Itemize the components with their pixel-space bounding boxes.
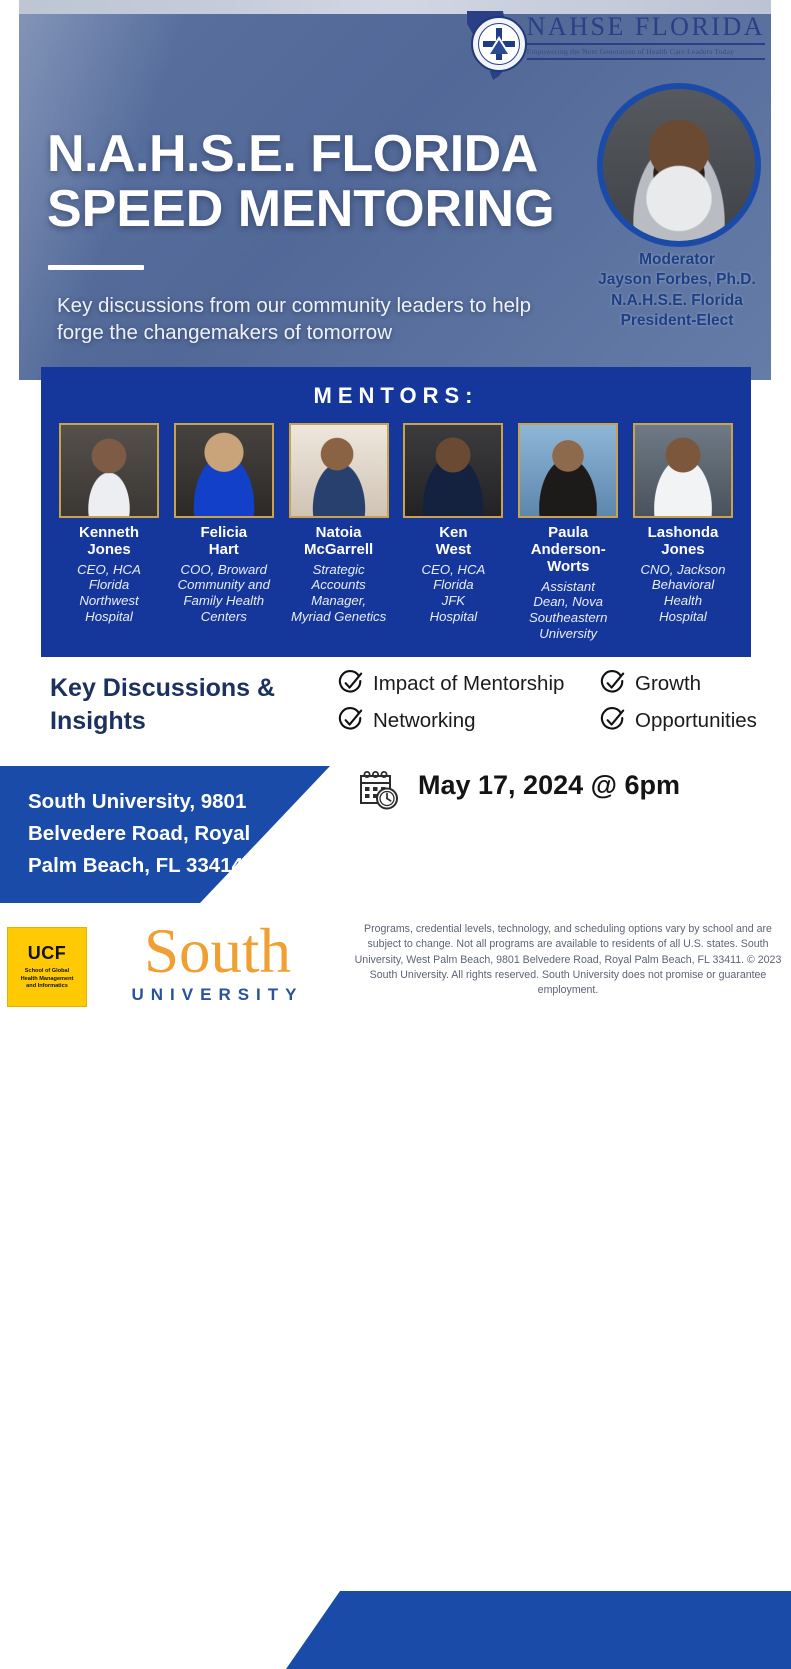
mentor-card: LashondaJonesCNO, JacksonBehavioralHealt… [629,423,737,641]
moderator-org: N.A.H.S.E. Florida [597,291,757,311]
mentor-title: CEO, HCAFloridaJFKHospital [399,562,507,624]
mentor-photo [403,423,503,518]
mentor-title: CNO, JacksonBehavioralHealthHospital [629,562,737,624]
mentor-card: NatoiaMcGarrellStrategicAccountsManager,… [285,423,393,641]
registration-link[interactable]: https://tinyurl.com/NAHSE-Florida [286,870,791,898]
cta-heading: RESERVE YOUR SPOT NOW! [286,834,791,862]
list-item: Impact of Mentorship [337,670,599,697]
moderator-avatar [597,83,761,247]
logo-wordmark: NAHSE FLORIDA [527,14,765,40]
list-item: Opportunities [599,707,757,734]
moderator-portrait-icon [603,89,755,241]
mentor-card: FeliciaHartCOO, BrowardCommunity andFami… [170,423,278,641]
nahse-seal-icon [471,16,527,72]
mentor-title: CEO, HCAFloridaNorthwestHospital [55,562,163,624]
mentors-heading: MENTORS: [41,367,751,409]
list-item-label: Impact of Mentorship [373,672,564,696]
event-date: May 17, 2024 @ 6pm [418,770,680,801]
check-circle-icon [337,670,364,697]
hero-subtitle: Key discussions from our community leade… [57,292,562,347]
mentor-name: KenWest [399,525,507,559]
mentor-name: LashondaJones [629,525,737,559]
mentor-title: AssistantDean, NovaSoutheasternUniversit… [514,579,622,641]
key-discussions-list: Impact of Mentorship Growth Networking [337,670,787,744]
list-item: Growth [599,670,701,697]
ucf-wordmark: UCF [28,943,67,964]
mentor-photo [633,423,733,518]
south-university-label: UNIVERSITY [110,985,325,1005]
mentor-photo [518,423,618,518]
mentor-name: FeliciaHart [170,525,278,559]
ucf-logo: UCF School of Global Health Management a… [7,927,87,1007]
mentor-card: KennethJonesCEO, HCAFloridaNorthwestHosp… [55,423,163,641]
hero-left-margin [0,0,19,380]
key-discussions-row: Networking Opportunities [337,707,787,734]
event-address: South University, 9801 Belvedere Road, R… [28,786,278,881]
hero-right-margin [771,0,791,380]
south-university-logo: South UNIVERSITY [110,920,325,1005]
logo-text-block: NAHSE FLORIDA Empowering the Next Genera… [527,8,765,60]
moderator-info: Moderator Jayson Forbes, Ph.D. N.A.H.S.E… [597,250,757,332]
mentor-name: KennethJones [55,525,163,559]
logo-rule-bottom [527,58,765,60]
page-title: N.A.H.S.E. FLORIDA SPEED MENTORING [47,127,555,236]
mentor-photo [289,423,389,518]
mentor-name: PaulaAnderson-Worts [514,525,622,576]
nahse-logo: NAHSE FLORIDA Empowering the Next Genera… [463,8,765,82]
mentor-card: KenWestCEO, HCAFloridaJFKHospital [399,423,507,641]
flyer-root: NAHSE FLORIDA Empowering the Next Genera… [0,0,791,1024]
mentor-title: COO, BrowardCommunity andFamily HealthCe… [170,562,278,624]
moderator-role: Moderator [597,250,757,270]
mentor-card: PaulaAnderson-WortsAssistantDean, NovaSo… [514,423,622,641]
title-underline [48,265,144,270]
check-circle-icon [599,670,626,697]
mentor-title: StrategicAccountsManager,Myriad Genetics [285,562,393,624]
mentor-photo [174,423,274,518]
check-circle-icon [599,707,626,734]
list-item: Networking [337,707,599,734]
mentors-row: KennethJonesCEO, HCAFloridaNorthwestHosp… [41,409,751,641]
legal-disclaimer: Programs, credential levels, technology,… [352,922,784,999]
logo-rule-top [527,43,765,45]
moderator-name: Jayson Forbes, Ph.D. [597,270,757,290]
logo-tagline: Empowering the Next Generation of Health… [527,47,765,56]
title-line-2: SPEED MENTORING [47,182,555,237]
list-item-label: Growth [635,672,701,696]
florida-map-icon [463,8,521,82]
mentor-name: NatoiaMcGarrell [285,525,393,559]
mentors-panel: MENTORS: KennethJonesCEO, HCAFloridaNort… [41,367,751,657]
south-wordmark: South [110,920,325,983]
key-discussions-row: Impact of Mentorship Growth [337,670,787,697]
moderator-position: President-Elect [597,311,757,331]
title-line-1: N.A.H.S.E. FLORIDA [47,127,555,182]
calendar-clock-icon [357,769,401,813]
list-item-label: Networking [373,709,476,733]
mentor-photo [59,423,159,518]
cta-banner [286,1591,791,1669]
ucf-school-name: School of Global Health Management and I… [16,968,78,991]
list-item-label: Opportunities [635,709,757,733]
key-discussions-heading: Key Discussions & Insights [50,672,310,737]
check-circle-icon [337,707,364,734]
